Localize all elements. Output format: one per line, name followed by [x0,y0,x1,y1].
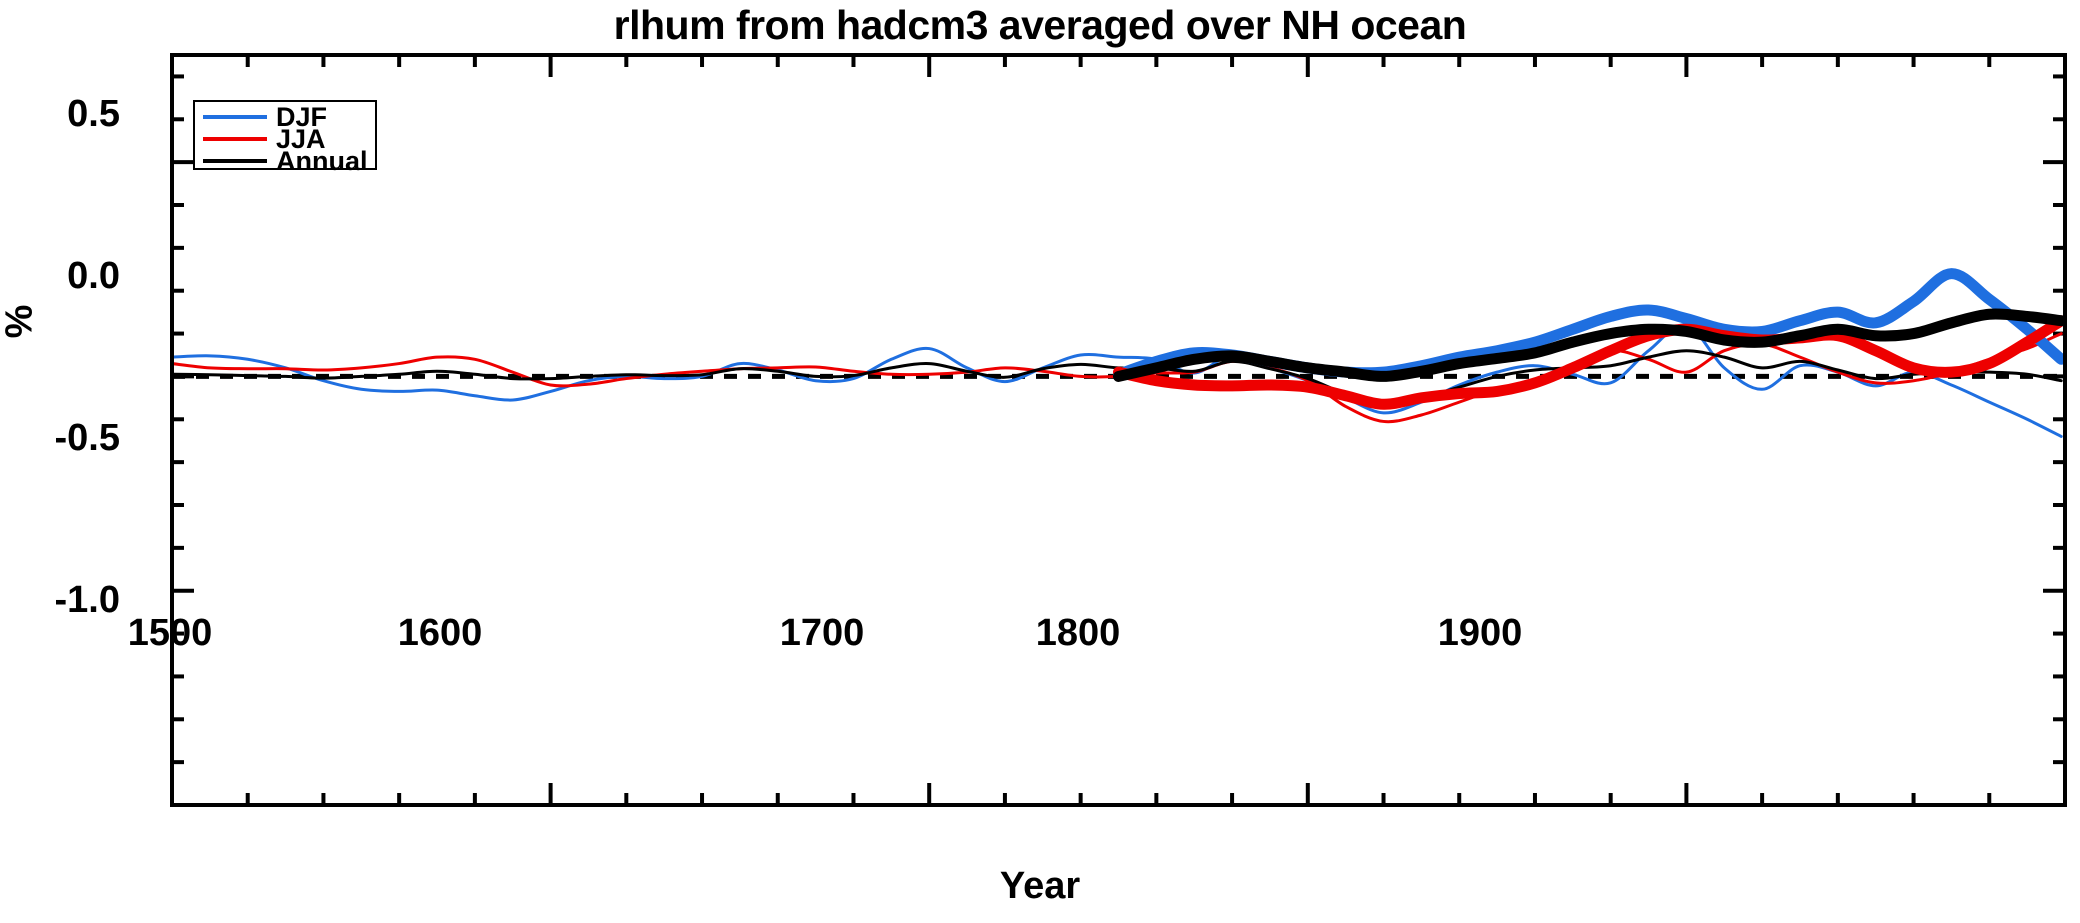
y-tick-label-0: 0.5 [0,93,120,136]
legend-item-annual: Annual [195,150,379,172]
x-axis-title: Year [940,865,1140,908]
y-axis-title: % [0,282,42,362]
x-tick-label-0: 1500 [70,612,270,655]
y-tick-label-2: -0.5 [0,417,120,460]
x-tick-label-3: 1800 [978,612,1178,655]
legend-swatch-annual [203,159,267,163]
axis-ticks [172,55,2065,805]
chart-figure: rlhum from hadcm3 averaged over NH ocean… [0,0,2080,923]
legend-swatch-jja [203,137,267,141]
x-tick-label-1: 1600 [340,612,540,655]
legend-swatch-djf [203,115,267,119]
legend: DJF JJA Annual [193,100,377,170]
legend-label-annual: Annual [276,148,368,175]
data-series-layer [172,274,2061,437]
x-tick-label-2: 1700 [722,612,922,655]
x-tick-label-4: 1900 [1380,612,1580,655]
plot-frame [172,55,2065,805]
